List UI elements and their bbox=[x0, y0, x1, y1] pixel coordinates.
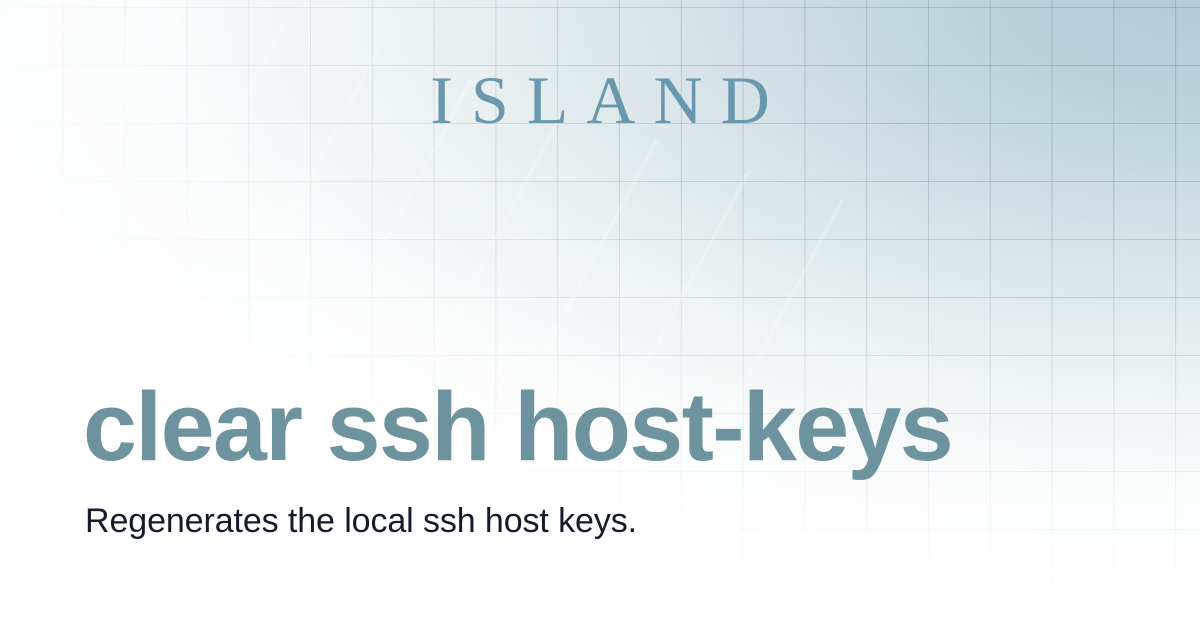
island-wordmark: ISLAND bbox=[412, 66, 787, 134]
card-content: ISLAND clear ssh host-keys Regenerates t… bbox=[0, 0, 1200, 630]
title-block: clear ssh host-keys Regenerates the loca… bbox=[83, 378, 1140, 541]
og-card: ISLAND clear ssh host-keys Regenerates t… bbox=[0, 0, 1200, 630]
brand-logo: ISLAND bbox=[0, 66, 1200, 134]
page-subtitle: Regenerates the local ssh host keys. bbox=[85, 502, 1140, 541]
page-title: clear ssh host-keys bbox=[83, 378, 1140, 475]
